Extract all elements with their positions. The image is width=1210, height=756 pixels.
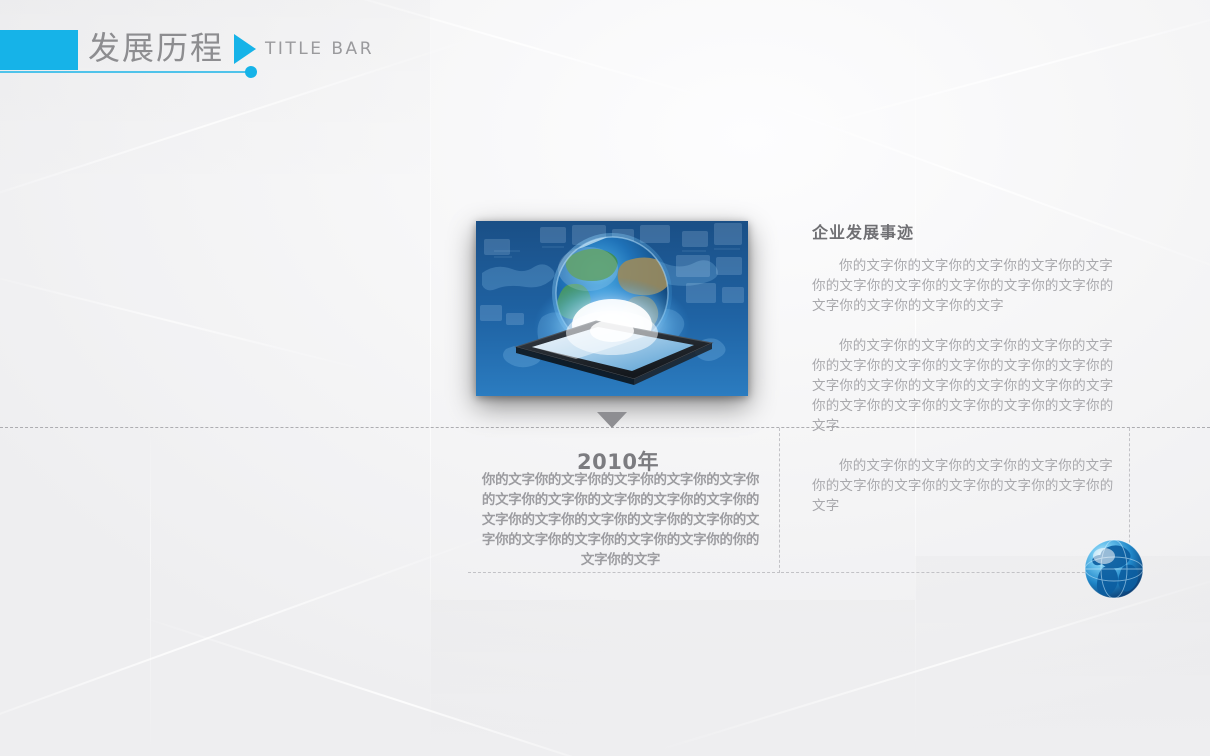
timeline-photo — [476, 221, 748, 396]
body-paragraph: 你的文字你的文字你的文字你的文字你的文字你的文字你的文字你的文字你的文字你的文字… — [812, 456, 1124, 516]
timeline-entry-panel: 2010年 你的文字你的文字你的文字你的文字你的文字你的文字你的文字你的文字你的… — [468, 428, 780, 573]
title-underline — [0, 71, 252, 73]
slide-canvas: 发展历程 TITLE BAR — [0, 0, 1210, 756]
title-accent-block — [0, 30, 78, 70]
globe-icon — [1082, 537, 1146, 601]
title-dot-icon — [245, 66, 257, 78]
right-content-column: 企业发展事迹 你的文字你的文字你的文字你的文字你的文字你的文字你的文字你的文字你… — [812, 222, 1124, 536]
section-heading: 企业发展事迹 — [812, 222, 1124, 244]
title-bar: 发展历程 TITLE BAR — [0, 0, 1210, 90]
right-triangle-icon — [234, 34, 256, 64]
body-paragraph: 你的文字你的文字你的文字你的文字你的文字你的文字你的文字你的文字你的文字你的文字… — [812, 256, 1124, 316]
page-title: 发展历程 — [88, 26, 224, 70]
body-paragraph: 你的文字你的文字你的文字你的文字你的文字你的文字你的文字你的文字你的文字你的文字… — [812, 336, 1124, 436]
down-triangle-icon — [597, 412, 627, 428]
timeline-entry-body: 你的文字你的文字你的文字你的文字你的文字你的文字你的文字你的文字你的文字你的文字… — [478, 470, 763, 570]
page-subtitle: TITLE BAR — [265, 38, 374, 60]
